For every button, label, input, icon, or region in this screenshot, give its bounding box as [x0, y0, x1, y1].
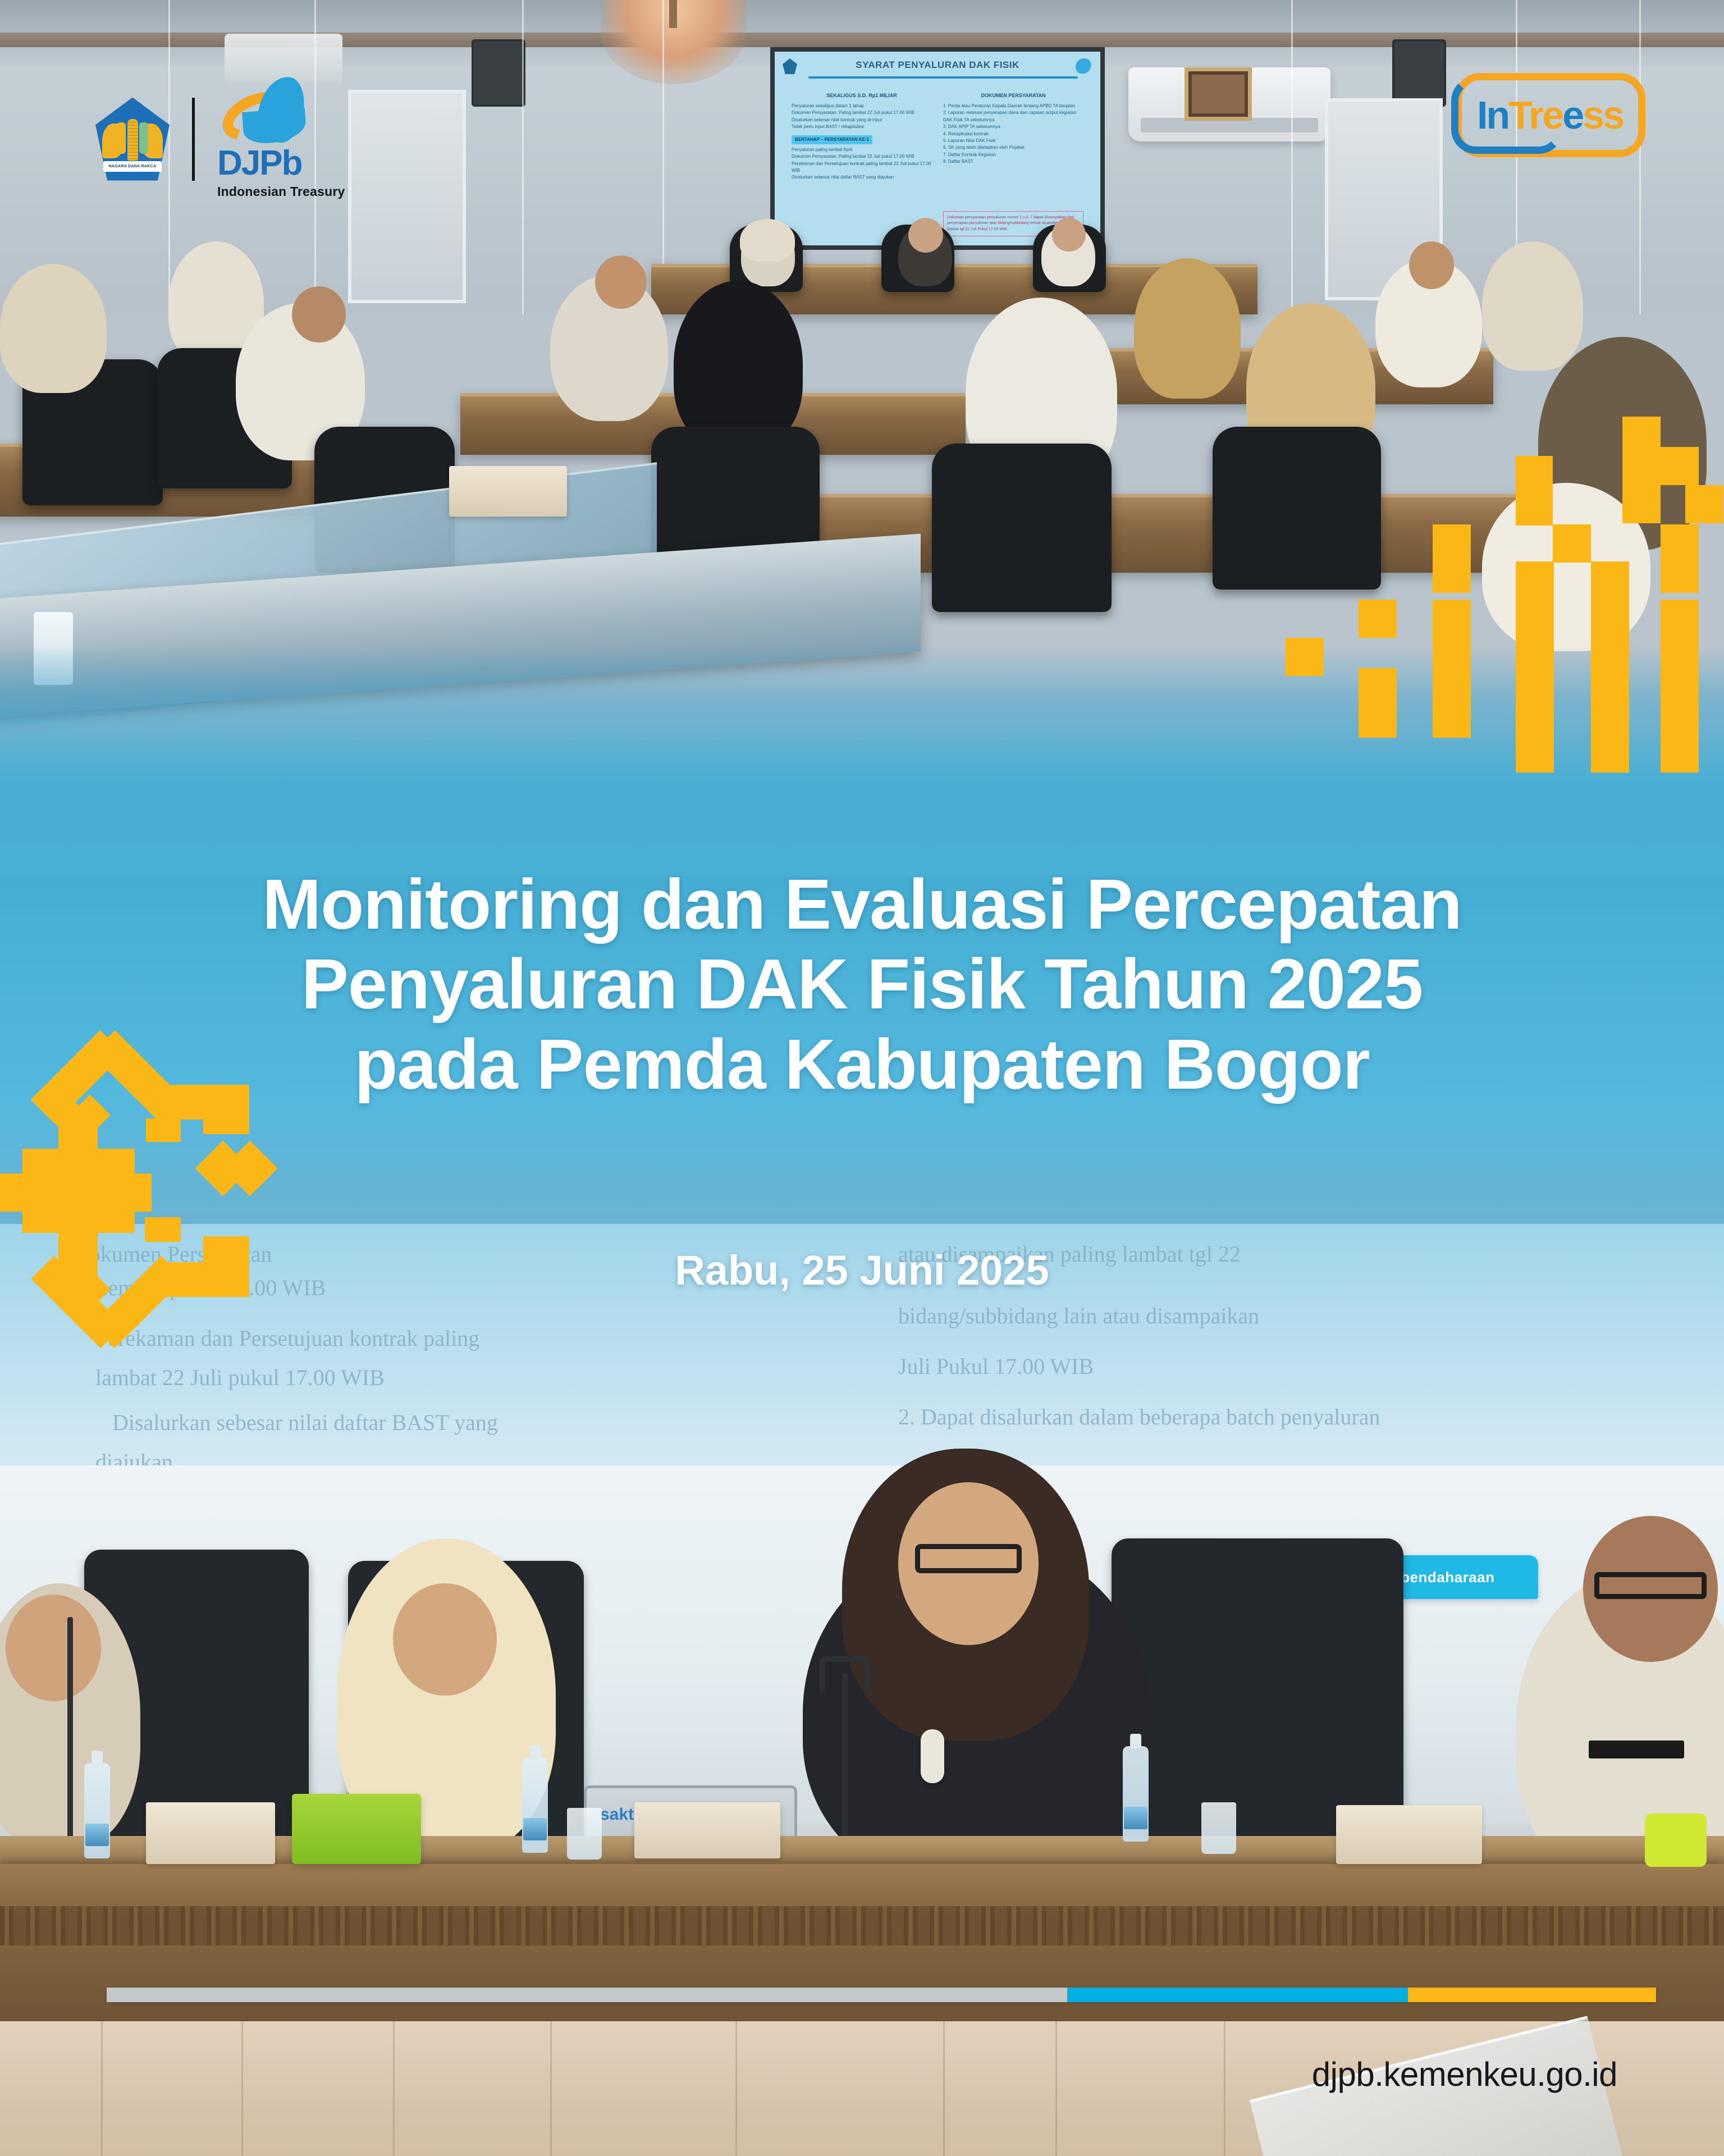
footer-progress-bar — [107, 1988, 1656, 2002]
screen-title: SYARAT PENYALURAN DAK FISIK — [775, 60, 1100, 71]
attendee-right-glasses — [1594, 1572, 1707, 1599]
intress-part-tre: Tre — [1508, 95, 1562, 135]
intress-wordmark: InTreess — [1455, 73, 1645, 157]
title-line-3: pada Pemda Kabupaten Bogor — [135, 1025, 1589, 1104]
wood-plank-seam — [241, 2021, 243, 2156]
table-carving — [0, 1906, 1724, 1945]
screen-right-item: 4. Rekapitulasi kontrak — [943, 131, 1083, 138]
yellow-object — [1645, 1814, 1707, 1867]
drinking-glass — [1201, 1802, 1236, 1854]
swoosh-blue-tail — [242, 108, 307, 145]
snack-box — [146, 1802, 275, 1864]
djpb-tagline: Indonesian Treasury — [217, 184, 346, 199]
progress-segment-cyan — [1067, 1988, 1408, 2002]
wood-plank-seam — [393, 2021, 395, 2156]
screen-left-item: Disalurkan sebesar nilai daftar BAST yan… — [792, 174, 932, 181]
rice-stalk-icon — [139, 122, 148, 154]
attendee-hijab — [740, 219, 795, 262]
air-conditioner-left — [225, 34, 342, 83]
screen-right-item: 7. Daftar Kontrak Kegiatan — [943, 152, 1083, 158]
microphone-stand — [67, 1617, 73, 1858]
progress-segment-yellow — [1408, 1988, 1656, 2002]
emblem-motto-ribbon: NAGARA DANA RAKCA — [103, 161, 162, 172]
djpb-swoosh-icon — [217, 79, 346, 144]
snack-box — [1336, 1805, 1482, 1864]
screen-left-item: Tidak perlu input BAST / rekapitulasi — [792, 124, 932, 130]
name-tag — [1589, 1741, 1684, 1758]
wood-plank-seam — [1055, 2021, 1057, 2156]
intress-part-in: In — [1477, 95, 1508, 135]
screen-right-item: 5. Laporan Nilai DAK Fisik — [943, 138, 1083, 144]
intress-part-ss: ss — [1583, 95, 1623, 135]
pillar-icon — [127, 119, 138, 161]
faded-screen-line: bidang/subbidang lain atau disampaikan — [898, 1303, 1259, 1329]
chair — [932, 444, 1112, 612]
footer-website: djpb.kemenkeu.go.id — [1312, 2055, 1617, 2094]
screen-left-item: Dokumen Persyaratan: Paling lambat 22 Ju… — [792, 153, 932, 160]
screen-column-right: DOKUMEN PERSYARATAN 1. Perda atau Peratu… — [943, 92, 1083, 165]
wall-seam — [1639, 0, 1641, 314]
screen-left-heading: SEKALIGUS S.D. Rp1 MILIAR — [792, 92, 932, 100]
room-door-left — [348, 90, 466, 303]
attendee-head — [595, 255, 647, 309]
intress-logo: InTreess — [1455, 73, 1645, 157]
screen-column-left: SEKALIGUS S.D. Rp1 MILIAR Penyaluran sek… — [792, 92, 932, 181]
attendee-head — [908, 218, 943, 253]
screen-left-item: Perekaman dan Persetujuan kontrak paling… — [792, 161, 932, 175]
attendee-head — [1409, 241, 1454, 289]
intress-part-e: e — [1562, 95, 1583, 135]
faded-screen-line: Juli Pukul 17.00 WIB — [898, 1353, 1094, 1380]
screen-right-heading: DOKUMEN PERSYARATAN — [943, 92, 1083, 100]
screen-left-item: Penyaluran sekaligus dalam 1 tahap — [792, 103, 932, 109]
title-line-1: Monitoring dan Evaluasi Percepatan — [135, 865, 1589, 944]
attendee-head — [292, 286, 346, 342]
drinking-glass — [567, 1808, 602, 1860]
screen-right-item: 6. SK yang telah ditetapkan oleh Pejabat — [943, 144, 1083, 151]
wall-portrait-frame — [1185, 67, 1252, 121]
event-date: Rabu, 25 Juni 2025 — [0, 1246, 1724, 1294]
progress-segment-gray — [107, 1988, 1067, 2002]
wall-seam — [522, 0, 524, 314]
water-bottle — [84, 1763, 110, 1858]
logo-group-left: NAGARA DANA RAKCA DJPb Indonesian Treasu… — [95, 79, 346, 199]
djpb-wordmark: DJPb — [217, 146, 346, 181]
page-title: Monitoring dan Evaluasi Percepatan Penya… — [0, 865, 1724, 1104]
faded-screen-line: 2. Dapat disalurkan dalam beberapa batch… — [898, 1404, 1380, 1430]
attendee-hijab — [1134, 258, 1241, 399]
screen-left-item: Dokumen Persyaratan: Paling lambat 22 Ju… — [792, 109, 932, 116]
screen-right-item: 1. Perda atau Peraturan Kepala Daerah te… — [943, 103, 1083, 109]
screen-right-item: 2. Laporan realisasi penyerapan dana dan… — [943, 109, 1083, 124]
logo-divider — [192, 98, 195, 181]
snack-box — [634, 1802, 780, 1858]
screen-right-item: 3. DAK APIP TA sebelumnya — [943, 124, 1083, 130]
kemenkeu-emblem-icon: NAGARA DANA RAKCA — [95, 98, 170, 181]
screen-title-rule — [808, 76, 1078, 79]
green-tissue-box — [292, 1794, 421, 1864]
snack-box — [449, 466, 567, 517]
title-line-2: Penyaluran DAK Fisik Tahun 2025 — [135, 944, 1589, 1024]
attendee-hijab — [674, 281, 803, 449]
wood-plank-seam — [735, 2021, 737, 2156]
wall-seam — [1291, 0, 1293, 314]
attendee-hijab — [1482, 241, 1583, 371]
screen-left-item: Penyaluran paling lambat April — [792, 147, 932, 153]
attendee-hijab — [0, 264, 107, 393]
screen-right-item: 8. Daftar BAST — [943, 158, 1083, 165]
chandelier-stem — [669, 0, 677, 28]
wall-speaker-left — [472, 39, 525, 107]
cotton-stalk-icon — [117, 122, 126, 154]
attendee-face-left — [6, 1595, 101, 1701]
wood-plank-seam — [101, 2021, 103, 2156]
speaker-glasses — [915, 1544, 1022, 1573]
attendee-head — [1052, 218, 1086, 252]
mic-clip — [820, 1656, 870, 1696]
chair — [1213, 427, 1381, 590]
water-bottle — [522, 1757, 548, 1853]
microphone-stand — [842, 1673, 848, 1858]
handheld-microphone — [921, 1729, 944, 1783]
screen-left-highlight: BERTAHAP – PERSYARATAN KE-1 — [792, 135, 872, 144]
presentation-screen-top: SYARAT PENYALURAN DAK FISIK SEKALIGUS S.… — [775, 52, 1100, 245]
laptop-screen-label: sakti — [600, 1805, 638, 1824]
wood-plank-seam — [550, 2021, 552, 2156]
poster-canvas: SYARAT PENYALURAN DAK FISIK SEKALIGUS S.… — [0, 0, 1724, 2156]
screen-left-item: Disalurkan sebesar nilai kontrak yang di… — [792, 117, 932, 124]
wall-speaker-right — [1392, 39, 1446, 107]
attendee-face-second — [393, 1583, 497, 1696]
wood-plank-seam — [1224, 2021, 1225, 2156]
wood-plank-seam — [943, 2021, 945, 2156]
djpb-logo: DJPb Indonesian Treasury — [217, 79, 346, 199]
water-bottle — [1123, 1746, 1149, 1842]
